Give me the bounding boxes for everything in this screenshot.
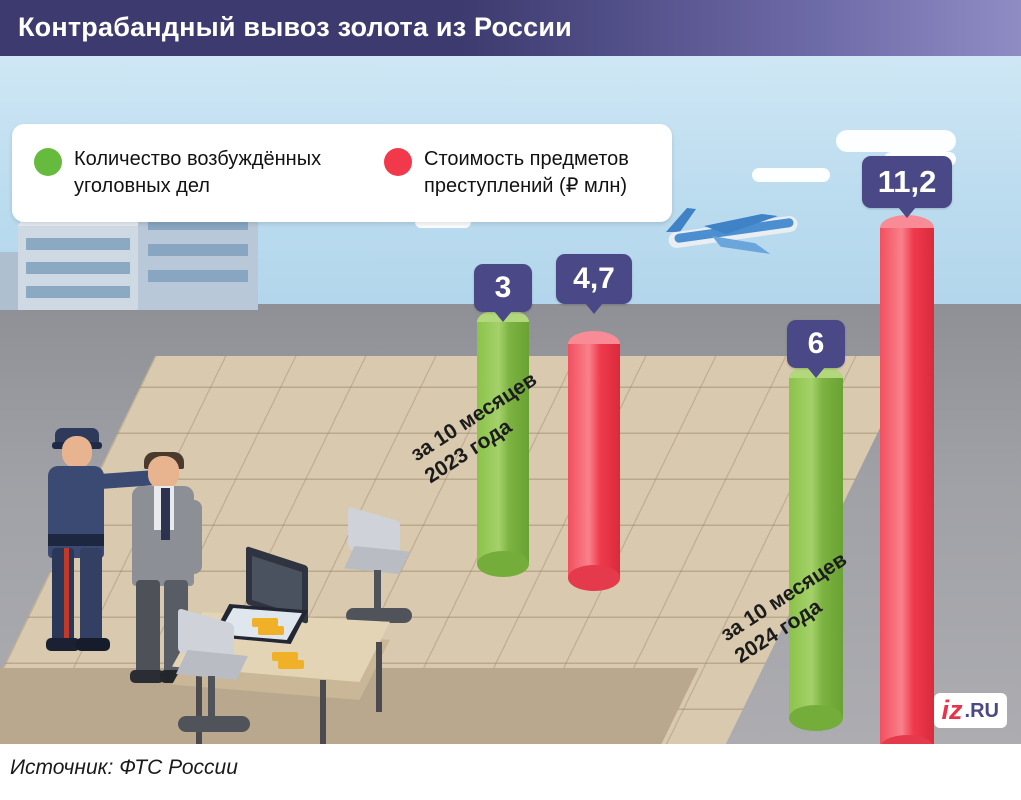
infographic-page: Контрабандный вывоз золота из России — [0, 0, 1021, 800]
officer-head — [62, 436, 92, 468]
suspect-head — [148, 456, 179, 489]
desk-leg — [376, 642, 382, 712]
window-strip — [26, 262, 130, 274]
value-label-2024-value: 11,2 — [862, 156, 952, 208]
legend-item-value: Стоимость предметов преступлений (₽ млн) — [384, 146, 672, 200]
officer-leg — [52, 548, 74, 642]
desk-leg — [196, 666, 202, 744]
logo-ru-text: .RU — [965, 701, 999, 721]
officer-trouser-stripe — [64, 548, 69, 642]
window-strip — [148, 244, 248, 256]
value-label-2023-value: 4,7 — [556, 254, 632, 304]
bar-bottom-cap — [477, 551, 529, 577]
bar-body — [568, 344, 620, 578]
suspect-arm — [186, 500, 202, 574]
value-label-2023-cases: 3 — [474, 264, 532, 312]
page-title: Контрабандный вывоз золота из России — [18, 12, 572, 43]
officer-leg — [80, 548, 102, 642]
legend-item-cases: Количество возбуждённых уголовных дел — [34, 146, 344, 200]
desk-leg — [320, 680, 326, 744]
officer-belt — [48, 534, 104, 546]
window-strip — [26, 286, 130, 298]
value-label-2024-cases: 6 — [787, 320, 845, 368]
gold-bar-icon — [258, 626, 284, 635]
logo-iz-text: iz — [942, 697, 963, 724]
iz-ru-logo[interactable]: iz .RU — [934, 693, 1007, 728]
suspect-shoe — [130, 670, 164, 683]
cloud-icon — [752, 168, 830, 182]
bar-bottom-cap — [568, 565, 620, 591]
gold-bar-icon — [278, 660, 304, 669]
illustration-scene: 3 4,7 за 10 месяцев 2023 года 6 11,2 — [0, 56, 1021, 744]
bar-body — [880, 228, 934, 744]
window-strip — [148, 270, 248, 282]
legend-card: Количество возбуждённых уголовных дел Ст… — [12, 124, 672, 222]
suspect-leg — [136, 580, 160, 676]
plane-wing-far — [712, 236, 774, 254]
window-strip — [26, 238, 130, 250]
legend-dot-green-icon — [34, 148, 62, 176]
footer-bar: Источник: ФТС России — [0, 744, 1021, 800]
terminal-building-front — [18, 224, 138, 310]
suspect-tie — [161, 488, 170, 540]
airplane-icon — [660, 196, 810, 266]
cloud-icon — [836, 130, 956, 152]
legend-label-value: Стоимость предметов преступлений (₽ млн) — [424, 146, 672, 200]
officer-shoe — [76, 638, 110, 651]
chair-base — [178, 716, 250, 732]
legend-label-cases: Количество возбуждённых уголовных дел — [74, 146, 344, 200]
legend-dot-red-icon — [384, 148, 412, 176]
bar-2023-value — [568, 344, 620, 578]
source-note: Источник: ФТС России — [10, 756, 238, 780]
header-bar: Контрабандный вывоз золота из России — [0, 0, 1021, 56]
bar-2024-value — [880, 228, 934, 744]
bar-bottom-cap — [789, 705, 843, 731]
officer-shoe — [46, 638, 80, 651]
